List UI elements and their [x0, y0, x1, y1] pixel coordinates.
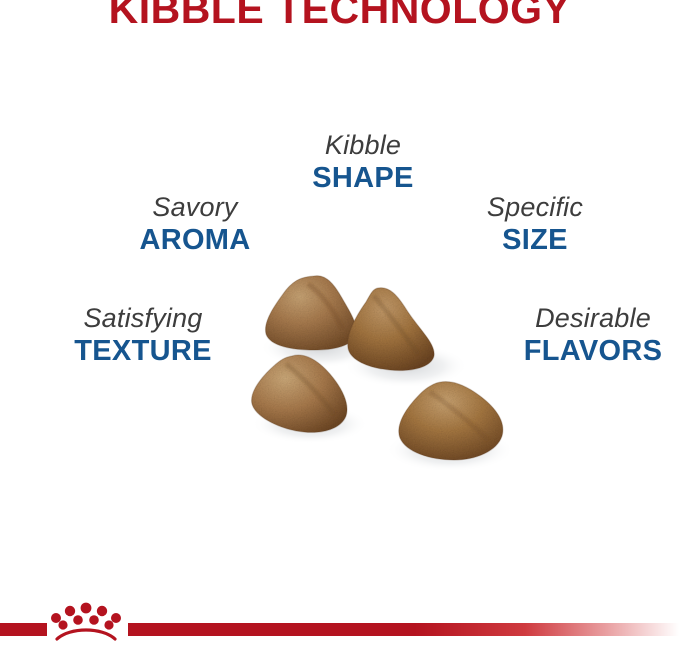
feature-label-texture: Satisfying TEXTURE [55, 305, 231, 366]
feature-noun-texture: TEXTURE [55, 337, 231, 366]
feature-adjective-texture: Satisfying [55, 305, 231, 332]
feature-label-size: Specific SIZE [455, 194, 615, 255]
brand-bar-left-segment [0, 623, 47, 636]
feature-adjective-shape: Kibble [283, 132, 443, 159]
feature-adjective-aroma: Savory [115, 194, 275, 221]
feature-label-shape: Kibble SHAPE [283, 132, 443, 193]
feature-adjective-size: Specific [455, 194, 615, 221]
page-title: KIBBLE TECHNOLOGY [0, 0, 679, 32]
feature-label-aroma: Savory AROMA [115, 194, 275, 255]
brand-bar-right-segment [128, 623, 679, 636]
kibble-piece-2 [348, 288, 434, 371]
kibble-piece-1 [266, 276, 357, 350]
footer-brand-bar [0, 623, 679, 637]
kibble-pieces-photo [238, 262, 538, 492]
crown-arc-icon [57, 630, 115, 639]
crown-dots-icon [51, 603, 121, 630]
kibble-piece-4 [399, 382, 503, 460]
kibble-illustration [238, 262, 538, 492]
feature-noun-shape: SHAPE [283, 164, 443, 193]
royal-canin-crown-logo [48, 601, 124, 641]
feature-noun-size: SIZE [455, 226, 615, 255]
feature-noun-aroma: AROMA [115, 226, 275, 255]
kibble-technology-infographic: KIBBLE TECHNOLOGY Kibble SHAPE Savory AR… [0, 0, 679, 655]
